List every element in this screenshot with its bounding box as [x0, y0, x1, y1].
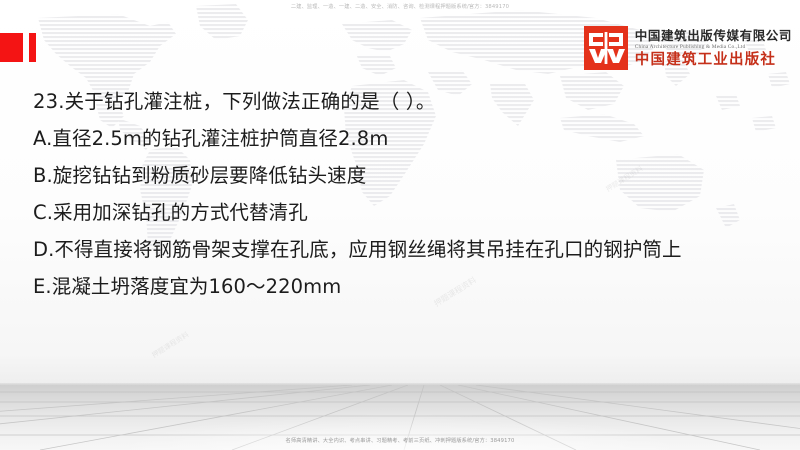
publisher-imprint-cn: 中国建筑工业出版社 — [635, 51, 792, 68]
option-b[interactable]: B.旋挖钻钻到粉质砂层要降低钻头速度 — [33, 157, 773, 194]
option-a[interactable]: A.直径2.5m的钻孔灌注桩护筒直径2.8m — [33, 120, 773, 157]
option-d[interactable]: D.不得直接将钢筋骨架支撑在孔底，应用钢丝绳将其吊挂在孔口的钢护筒上 — [33, 231, 773, 268]
slide-canvas: 二建、监理、一造、一建、二造、安全、消防、咨询、检测课程押题版系统/官方：384… — [0, 0, 800, 450]
publisher-logo-text: 中国建筑出版传媒有限公司 China Architecture Publishi… — [635, 29, 792, 68]
question-stem: 23.关于钻孔灌注桩，下列做法正确的是（ ）。 — [33, 83, 773, 120]
question-block: 23.关于钻孔灌注桩，下列做法正确的是（ ）。 A.直径2.5m的钻孔灌注桩护筒… — [33, 83, 773, 305]
publisher-company-en: China Architecture Publishing & Media Co… — [635, 43, 792, 51]
top-micro-banner: 二建、监理、一造、一建、二造、安全、消防、咨询、检测课程押题版系统/官方：384… — [0, 3, 800, 11]
red-accent-block-wide — [0, 33, 23, 62]
publisher-company-cn: 中国建筑出版传媒有限公司 — [635, 29, 792, 43]
option-e[interactable]: E.混凝土坍落度宜为160～220mm — [33, 268, 773, 305]
red-accent-block-narrow — [29, 33, 36, 62]
open-book-emblem-icon — [584, 26, 628, 70]
publisher-logo: 中国建筑出版传媒有限公司 China Architecture Publishi… — [584, 26, 792, 70]
option-c[interactable]: C.采用加深钻孔的方式代替清孔 — [33, 194, 773, 231]
bottom-micro-banner: 名师高清精讲、大全内识、考点串讲、习题精考、考前三页纸、冲刺押题版系统/官方：3… — [0, 437, 800, 445]
